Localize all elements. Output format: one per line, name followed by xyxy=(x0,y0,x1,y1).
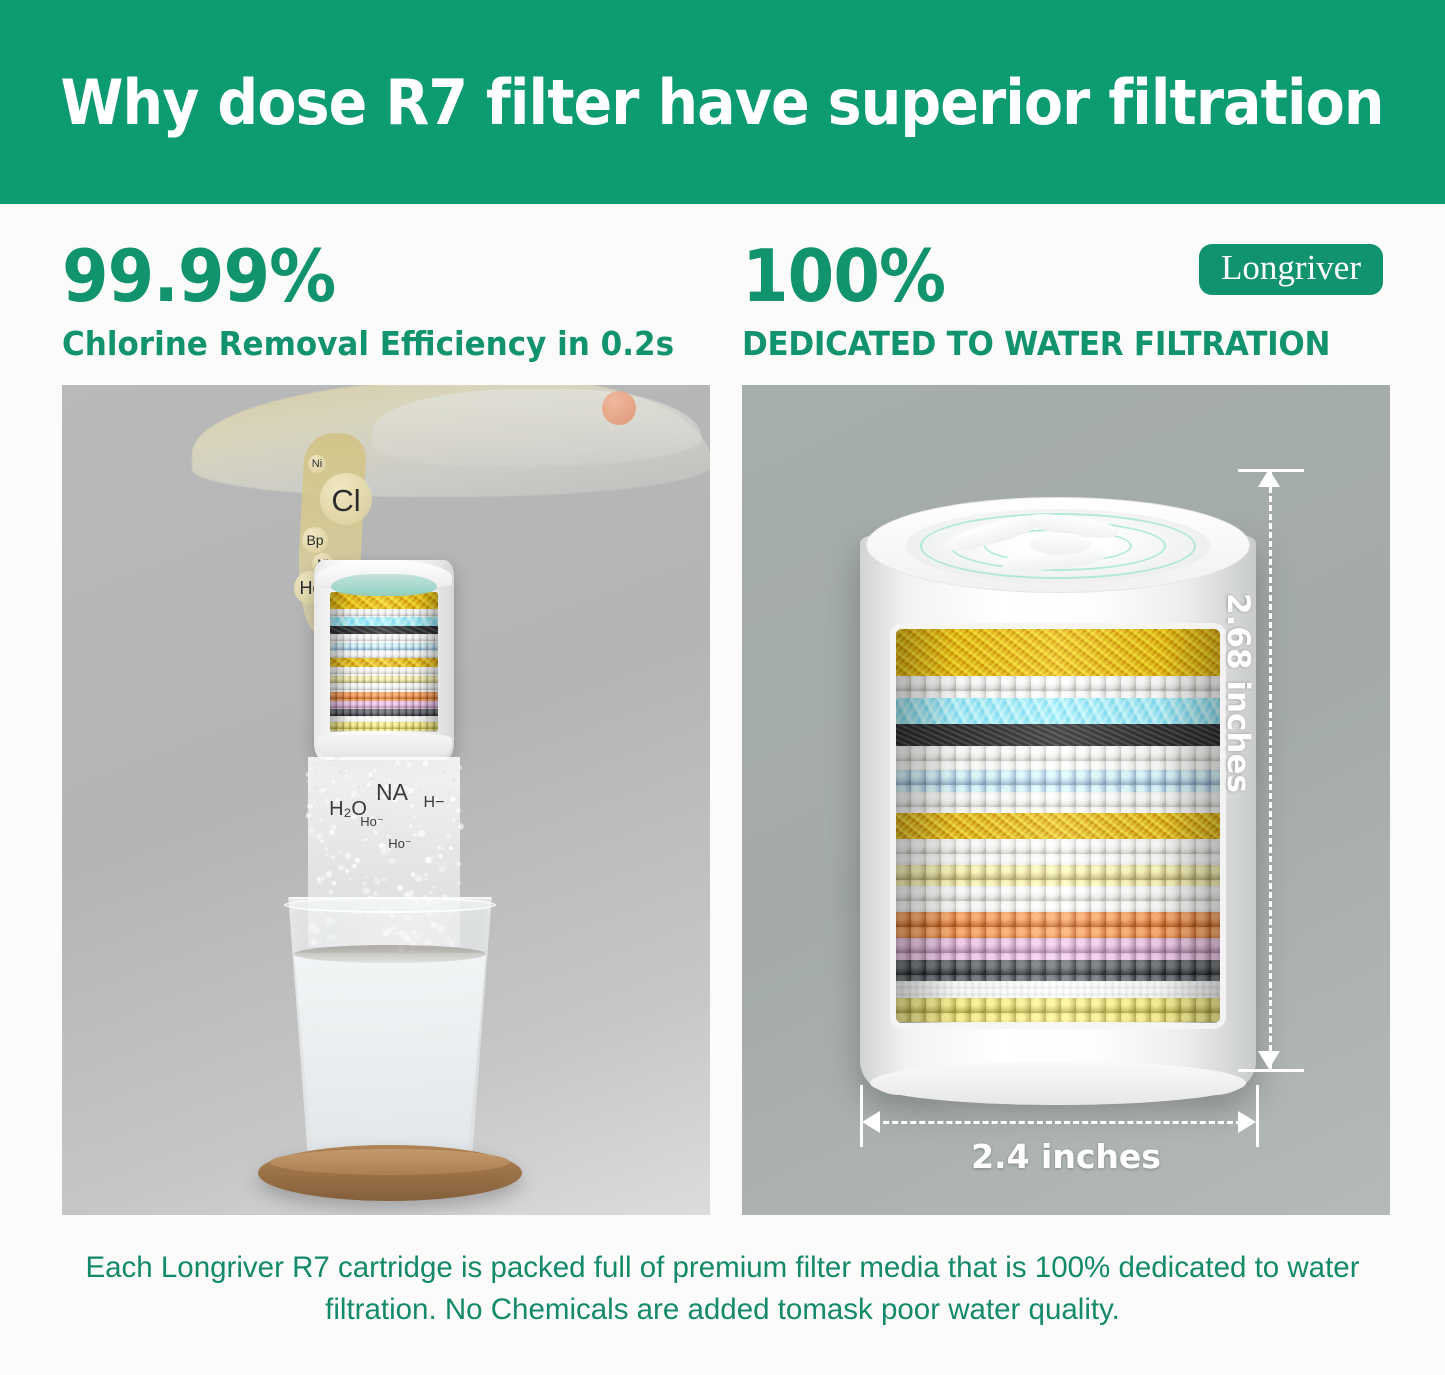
water-bubble xyxy=(348,877,352,881)
arrow-up-icon xyxy=(1258,469,1280,487)
water-bubble xyxy=(319,838,325,844)
stat-block-dedication: 100% DEDICATED TO WATER FILTRATION Longr… xyxy=(742,240,1383,363)
swirl-hub xyxy=(1030,533,1092,555)
vortex-swirl-icon xyxy=(906,509,1210,583)
dirty-water-sheet-secondary xyxy=(372,389,702,467)
water-bubble xyxy=(432,885,437,890)
media-layer-pale-yellow-beads xyxy=(896,865,1220,886)
water-bubble xyxy=(428,890,433,895)
splash-droplet-icon xyxy=(602,391,636,425)
water-bubble xyxy=(371,832,375,836)
water-bubble xyxy=(355,849,358,852)
water-bubble xyxy=(383,877,388,882)
water-bubble xyxy=(351,782,357,788)
water-bubble xyxy=(350,789,359,798)
product-photo-filtration-demo: Ni Cl Bp Ni Hg NA H₂O H− Ho⁻ Ho⁻ xyxy=(62,385,710,1215)
water-bubble xyxy=(457,881,461,885)
water-bubble xyxy=(314,787,317,790)
stat-block-chlorine: 99.99% Chlorine Removal Efficiency in 0.… xyxy=(62,240,710,363)
water-bubble xyxy=(452,845,455,848)
water-bubble xyxy=(308,813,313,818)
arrow-down-icon xyxy=(1258,1051,1280,1069)
clean-label-h-minus: H− xyxy=(414,795,454,811)
media-layer-white-beads-3 xyxy=(330,651,438,658)
media-layer-gold-shavings xyxy=(896,629,1220,676)
water-bubble xyxy=(340,770,343,773)
water-bubble xyxy=(322,758,325,761)
water-bubble xyxy=(444,861,448,865)
cartridge-bottom-lip xyxy=(870,1061,1246,1105)
water-bubble xyxy=(458,798,461,801)
water-bubble xyxy=(457,765,461,769)
water-bubble xyxy=(405,761,414,770)
dimension-tick-bottom xyxy=(1238,1069,1304,1072)
water-bubble xyxy=(408,823,414,829)
water-bubble xyxy=(331,880,337,886)
media-layer-white-beads-5 xyxy=(330,683,438,692)
media-layer-blue-crystals xyxy=(330,617,438,626)
media-layer-white-beads-3 xyxy=(896,792,1220,813)
dimension-label-width: 2.4 inches xyxy=(742,1137,1390,1176)
water-bubble xyxy=(421,839,423,841)
water-bubble xyxy=(396,884,404,892)
media-layer-pink-lavender-beads xyxy=(330,701,438,709)
contaminant-label-bp: Bp xyxy=(300,533,330,547)
arrow-left-icon xyxy=(862,1111,880,1133)
panels-row: Ni Cl Bp Ni Hg NA H₂O H− Ho⁻ Ho⁻ xyxy=(0,363,1445,1215)
water-bubble xyxy=(454,807,461,814)
clean-label-ho-2: Ho⁻ xyxy=(380,837,420,850)
dimension-line-horizontal xyxy=(874,1121,1242,1124)
water-bubble xyxy=(353,775,357,779)
water-bubble xyxy=(362,887,370,895)
dimension-line-vertical xyxy=(1269,469,1272,1069)
arrow-right-icon xyxy=(1238,1111,1256,1133)
glass-water-surface xyxy=(294,945,486,963)
water-bubble xyxy=(372,890,379,897)
media-layer-white-beads-4 xyxy=(330,667,438,676)
water-bubble xyxy=(362,881,368,887)
media-layer-black-carbon xyxy=(896,724,1220,746)
stat-caption-dedication: DEDICATED TO WATER FILTRATION xyxy=(742,324,1345,363)
water-bubble xyxy=(354,857,361,864)
media-layer-dark-gray-beads xyxy=(896,960,1220,981)
cartridge-swirl-top xyxy=(331,574,437,596)
water-bubble xyxy=(361,837,368,844)
water-bubble xyxy=(397,871,400,874)
media-layer-gold-fiber xyxy=(896,813,1220,839)
water-bubble xyxy=(448,791,452,795)
media-layer-orange-beads xyxy=(330,692,438,701)
water-bubble xyxy=(325,870,333,878)
water-bubble xyxy=(373,778,375,780)
water-bubble xyxy=(380,866,382,868)
product-photo-filter-dimensions: 2.68 inches 2.4 inches xyxy=(742,385,1390,1215)
media-layer-white-beads-5 xyxy=(896,886,1220,912)
stat-caption-chlorine: Chlorine Removal Efficiency in 0.2s xyxy=(62,324,671,363)
media-layer-white-beads-1 xyxy=(896,676,1220,698)
water-bubble xyxy=(453,779,456,782)
water-bubble xyxy=(372,768,378,774)
contaminant-label-ni-1: Ni xyxy=(305,459,329,470)
dimension-label-height: 2.68 inches xyxy=(1220,593,1256,793)
water-bubble xyxy=(306,772,311,777)
water-bubble xyxy=(328,829,336,837)
wooden-coaster xyxy=(258,1145,522,1201)
water-bubble xyxy=(442,771,445,774)
filter-cartridge-small xyxy=(314,560,454,760)
brand-badge-longriver: Longriver xyxy=(1199,244,1383,295)
cartridge-media-window-large xyxy=(896,629,1220,1023)
glass-rim xyxy=(284,897,496,913)
water-bubble xyxy=(364,875,368,879)
water-bubble xyxy=(435,875,438,878)
water-bubble xyxy=(440,846,444,850)
water-bubble xyxy=(424,877,428,881)
stat-value-chlorine: 99.99% xyxy=(62,240,665,312)
water-bubble xyxy=(415,872,418,875)
page-title: Why dose R7 filter have superior filtrat… xyxy=(61,66,1384,139)
water-bubble xyxy=(307,803,314,810)
water-bubble xyxy=(337,850,341,854)
media-layer-dark-gray-beads xyxy=(330,709,438,716)
media-layer-black-carbon xyxy=(330,626,438,634)
water-bubble xyxy=(344,868,350,874)
media-layer-white-beads-1 xyxy=(330,609,438,617)
media-layer-white-beads-2 xyxy=(330,634,438,643)
water-bubble xyxy=(330,854,336,860)
water-bubble xyxy=(450,816,457,823)
footer-description: Each Longriver R7 cartridge is packed fu… xyxy=(0,1215,1445,1331)
water-bubble xyxy=(457,823,464,830)
water-bubble xyxy=(330,778,337,785)
water-bubble xyxy=(393,763,398,768)
media-layer-pink-lavender-beads xyxy=(896,938,1220,960)
water-bubble xyxy=(314,769,317,772)
coaster-top-face xyxy=(270,1149,510,1175)
media-layer-white-foam xyxy=(896,981,1220,998)
water-bubble xyxy=(370,778,372,780)
water-bubble xyxy=(358,786,360,788)
water-bubble xyxy=(394,770,399,775)
water-bubble xyxy=(437,853,443,859)
media-layer-gold-fiber xyxy=(330,658,438,667)
media-layer-yellow-beads xyxy=(896,998,1220,1022)
media-layer-orange-beads xyxy=(896,912,1220,938)
water-bubble xyxy=(316,777,319,780)
filter-cartridge-large xyxy=(860,481,1256,1109)
water-bubble xyxy=(335,757,340,762)
media-layer-light-blue-beads xyxy=(896,770,1220,792)
water-bubble xyxy=(344,768,349,773)
media-layer-white-beads-4 xyxy=(896,839,1220,865)
water-bubble xyxy=(445,832,452,839)
media-layer-white-beads-2 xyxy=(896,746,1220,770)
contaminant-label-cl: Cl xyxy=(320,485,372,516)
water-bubble xyxy=(306,781,308,783)
header-banner: Why dose R7 filter have superior filtrat… xyxy=(0,0,1445,204)
water-bubble xyxy=(330,765,335,770)
footer-text: Each Longriver R7 cartridge is packed fu… xyxy=(70,1247,1375,1331)
water-bubble xyxy=(388,857,396,865)
stats-row: 99.99% Chlorine Removal Efficiency in 0.… xyxy=(0,204,1445,363)
water-bubble xyxy=(456,861,462,867)
media-layer-pale-yellow-beads xyxy=(330,676,438,683)
water-bubble xyxy=(343,773,350,780)
media-layer-yellow-beads xyxy=(330,722,438,731)
water-bubble xyxy=(411,814,417,820)
water-bubble xyxy=(351,863,357,869)
water-bubble xyxy=(344,857,346,859)
media-layer-light-blue-beads xyxy=(330,643,438,651)
water-glass xyxy=(284,897,496,1177)
water-bubble xyxy=(343,824,346,827)
glass-water-fill xyxy=(292,953,488,1171)
water-bubble xyxy=(421,759,430,768)
water-bubble xyxy=(328,889,334,895)
water-bubble xyxy=(407,815,410,818)
cartridge-media-window-small xyxy=(330,592,438,732)
clean-label-ho-1: Ho⁻ xyxy=(352,815,392,828)
media-layer-blue-crystals xyxy=(896,698,1220,724)
water-bubble xyxy=(319,844,322,847)
water-bubble xyxy=(313,762,315,764)
